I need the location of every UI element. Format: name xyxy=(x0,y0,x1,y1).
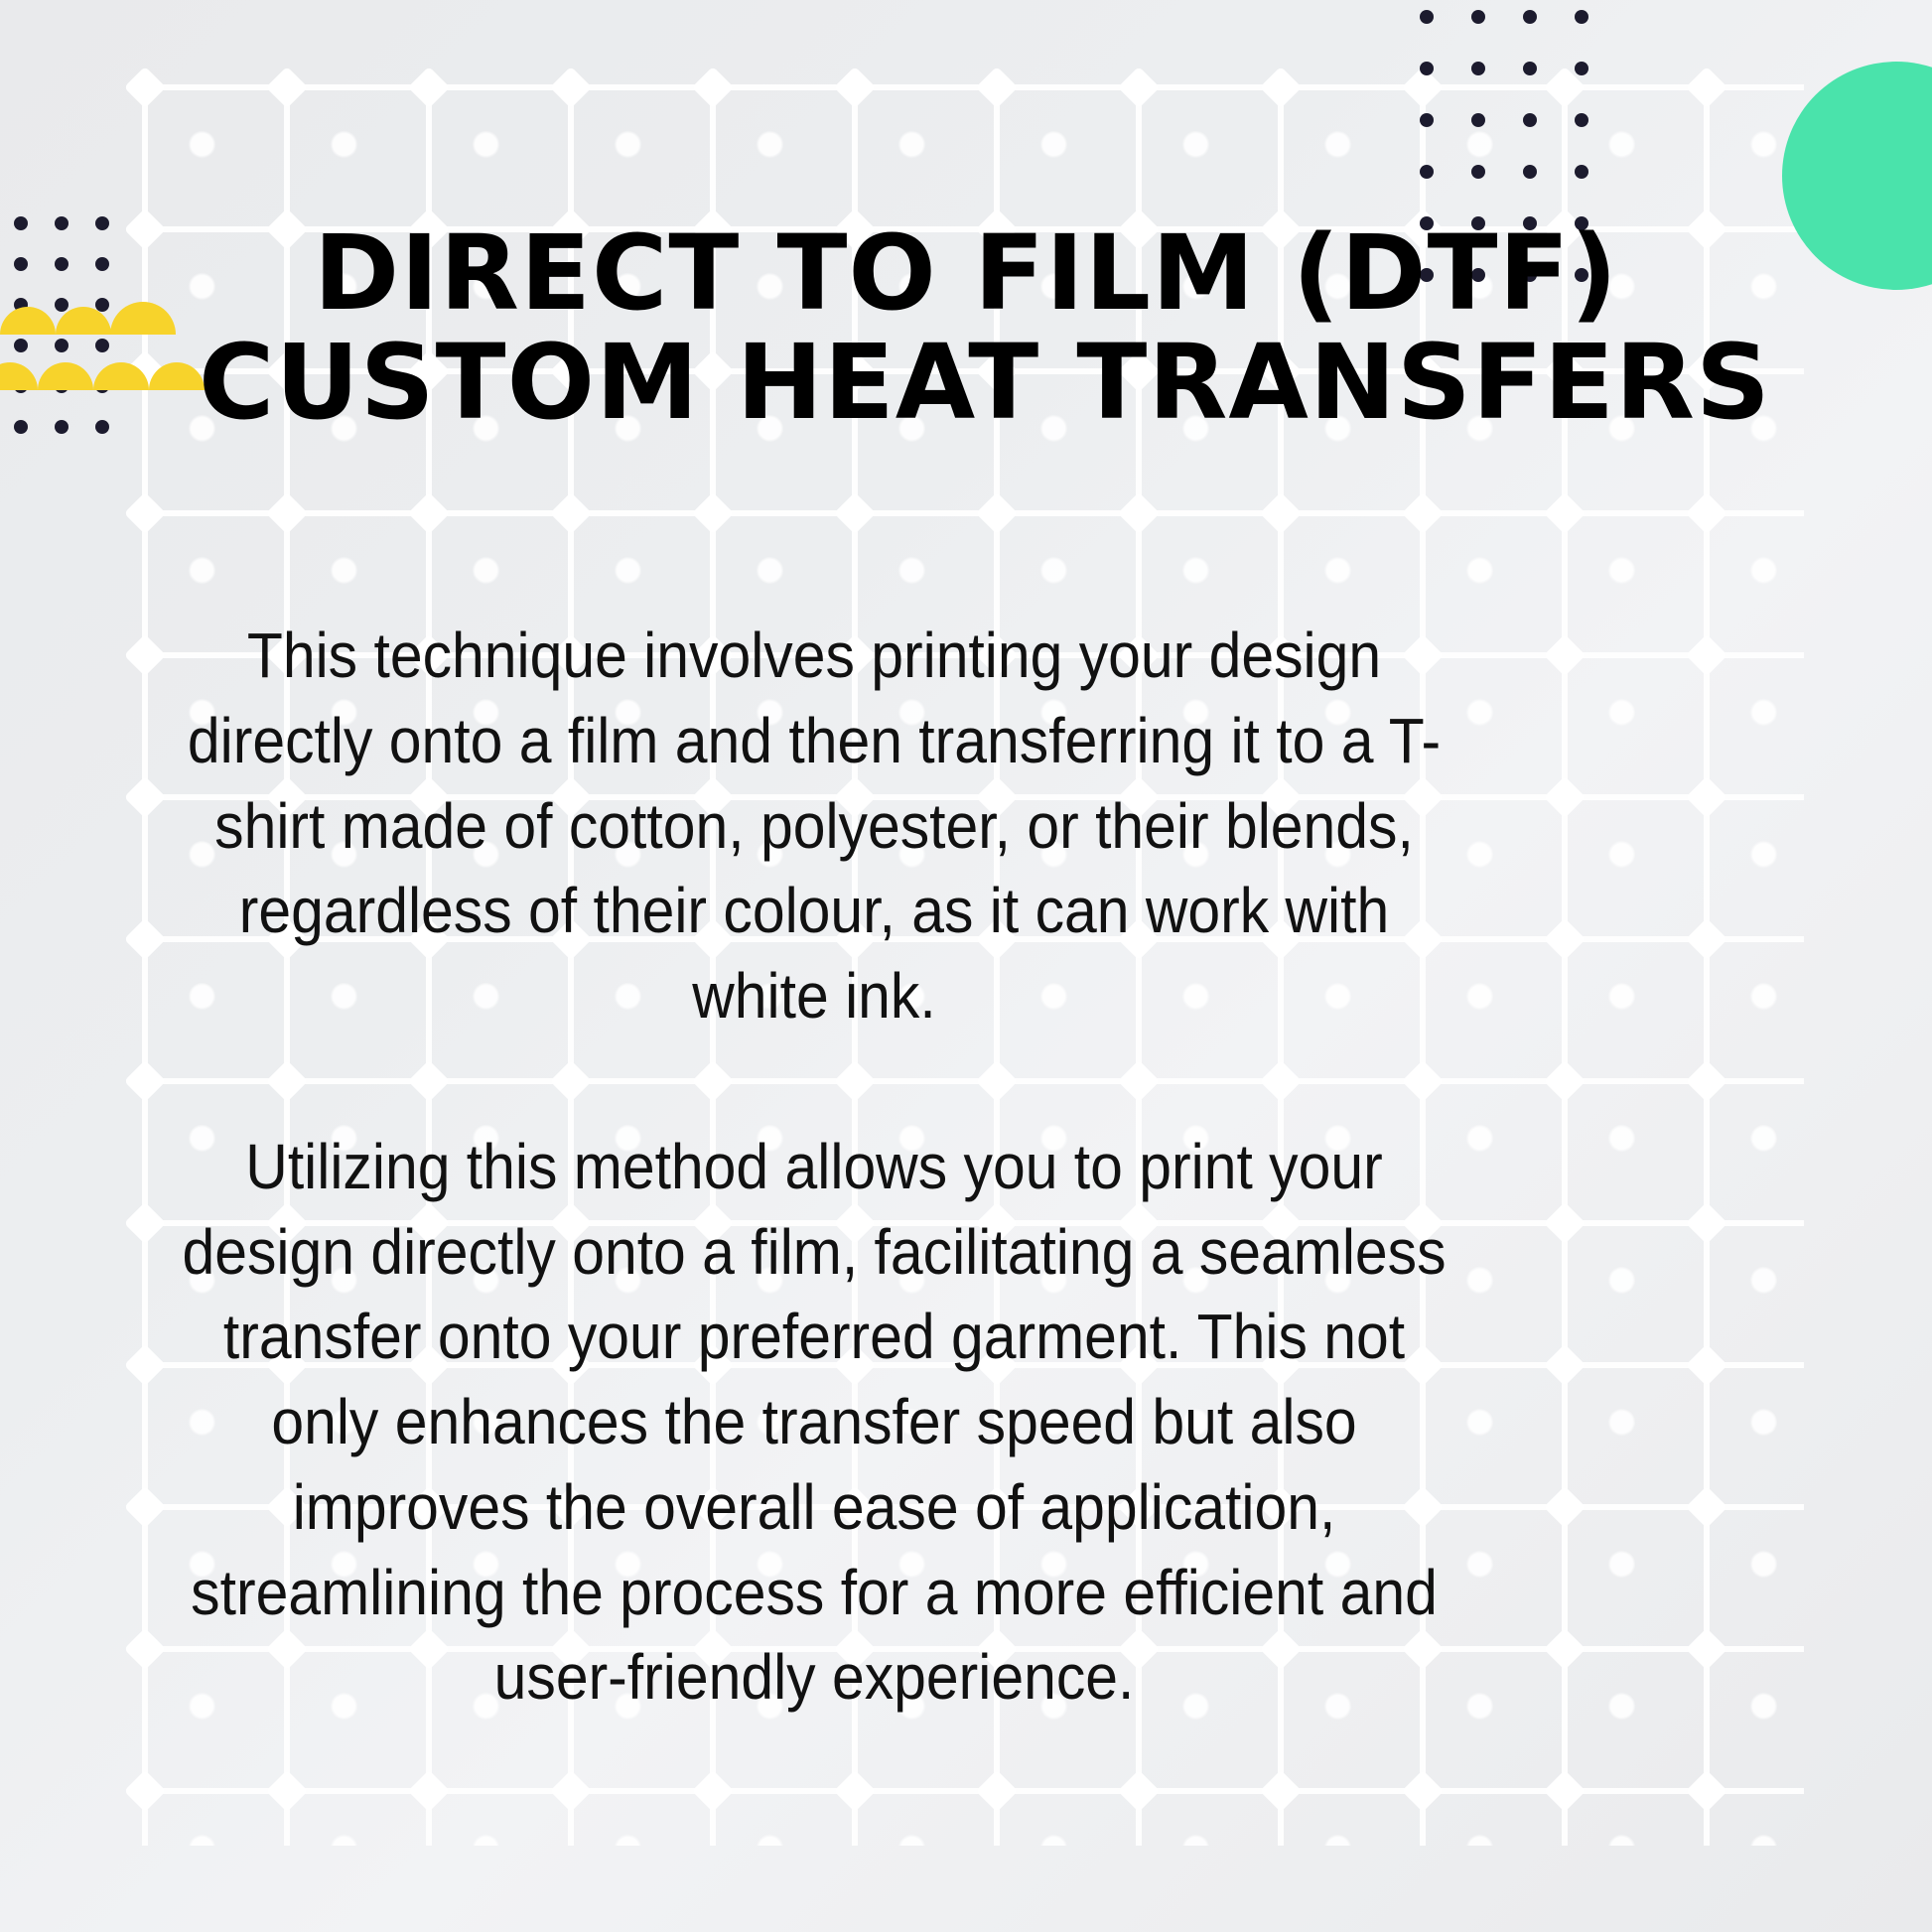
page-title: DIRECT TO FILM (DTF) CUSTOM HEAT TRANSFE… xyxy=(199,218,1733,437)
poster-canvas: DIRECT TO FILM (DTF) CUSTOM HEAT TRANSFE… xyxy=(0,0,1932,1932)
title-line-1: DIRECT TO FILM (DTF) xyxy=(199,218,1733,328)
poster-content: DIRECT TO FILM (DTF) CUSTOM HEAT TRANSFE… xyxy=(0,0,1932,1932)
title-line-2: CUSTOM HEAT TRANSFERS xyxy=(199,328,1733,437)
paragraph-1: This technique involves printing your de… xyxy=(175,614,1453,1039)
body-copy: This technique involves printing your de… xyxy=(175,614,1453,1721)
paragraph-2: Utilizing this method allows you to prin… xyxy=(175,1125,1453,1721)
